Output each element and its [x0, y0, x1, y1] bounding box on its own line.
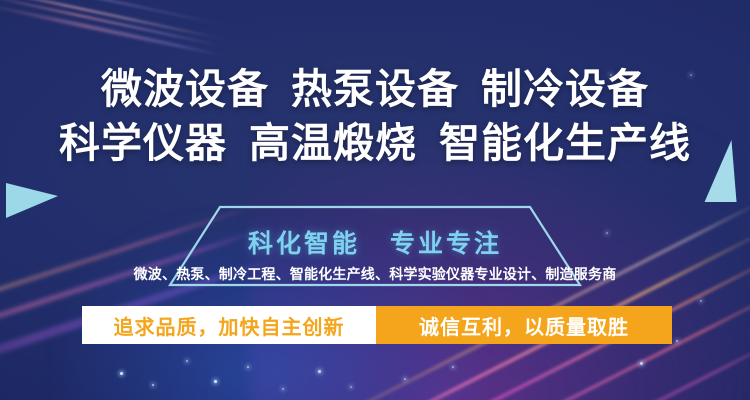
headline-item-heatpump: 热泵设备 — [291, 62, 459, 116]
headline-line-2: 科学仪器高温煅烧智能化生产线 — [0, 116, 750, 170]
headline: 微波设备热泵设备制冷设备 科学仪器高温煅烧智能化生产线 — [0, 62, 750, 170]
bottom-slogan-right: 诚信互利，以质量取胜 — [376, 306, 672, 344]
headline-item-microwave: 微波设备 — [101, 62, 269, 116]
headline-item-refrigeration: 制冷设备 — [481, 62, 649, 116]
headline-item-calcination: 高温煅烧 — [249, 116, 417, 170]
slogan-cyan-right: 专业专注 — [390, 229, 502, 258]
headline-item-instruments: 科学仪器 — [59, 116, 227, 170]
slogan-cyan-left: 科化智能 — [248, 229, 360, 258]
headline-line-1: 微波设备热泵设备制冷设备 — [0, 62, 750, 116]
bottom-slogan-left: 追求品质，加快自主创新 — [82, 306, 376, 344]
headline-item-production-line: 智能化生产线 — [439, 116, 691, 170]
slogan-cyan: 科化智能专业专注 — [0, 224, 750, 260]
bottom-slogan-bar: 追求品质，加快自主创新 诚信互利，以质量取胜 — [82, 306, 672, 344]
slogan-subtitle: 微波、热泵、制冷工程、智能化生产线、科学实验仪器专业设计、制造服务商 — [0, 264, 750, 284]
left-arrow-icon — [6, 183, 58, 218]
promo-banner: 微波设备热泵设备制冷设备 科学仪器高温煅烧智能化生产线 科化智能专业专注 微波、… — [0, 0, 750, 400]
